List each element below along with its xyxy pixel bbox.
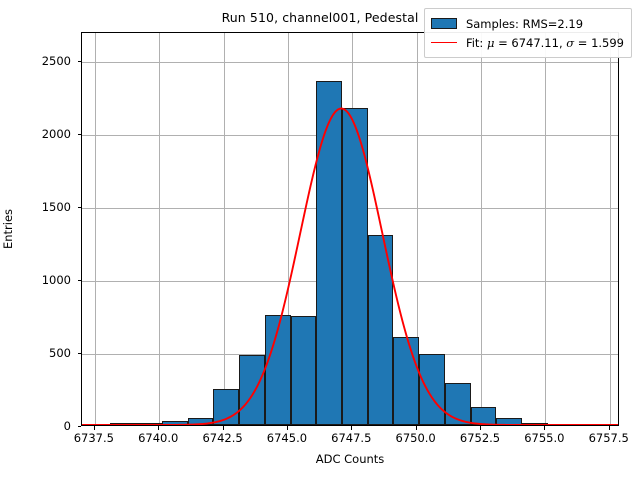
x-tick-label: 6742.5 bbox=[202, 431, 242, 445]
x-tick-label: 6752.5 bbox=[460, 431, 500, 445]
x-tick-mark bbox=[416, 426, 417, 430]
x-tick-label: 6740.0 bbox=[138, 431, 178, 445]
legend-item-samples: Samples: RMS=2.19 bbox=[431, 14, 624, 33]
y-tick-label: 500 bbox=[0, 346, 71, 360]
x-tick-mark bbox=[158, 426, 159, 430]
y-axis-label: Entries bbox=[1, 209, 15, 249]
legend: Samples: RMS=2.19 Fit: μ = 6747.11, σ = … bbox=[424, 8, 632, 58]
y-tick-mark bbox=[78, 207, 82, 208]
x-axis-label: ADC Counts bbox=[81, 452, 619, 466]
legend-patch-swatch-icon bbox=[431, 18, 457, 29]
y-tick-mark bbox=[78, 426, 82, 427]
legend-line-swatch-icon bbox=[431, 37, 457, 48]
y-tick-mark bbox=[78, 61, 82, 62]
x-tick-label: 6747.5 bbox=[331, 431, 371, 445]
fit-curve-path bbox=[82, 109, 618, 425]
y-tick-label: 0 bbox=[0, 419, 71, 433]
x-tick-mark bbox=[94, 426, 95, 430]
x-tick-mark bbox=[223, 426, 224, 430]
y-tick-label: 2500 bbox=[0, 54, 71, 68]
y-tick-mark bbox=[78, 134, 82, 135]
legend-fit-mu-value: = 6747.11, bbox=[494, 36, 566, 50]
x-tick-mark bbox=[480, 426, 481, 430]
x-tick-label: 6750.0 bbox=[396, 431, 436, 445]
y-tick-mark bbox=[78, 280, 82, 281]
legend-item-samples-label: Samples: RMS=2.19 bbox=[466, 17, 583, 31]
x-tick-mark bbox=[287, 426, 288, 430]
y-tick-mark bbox=[78, 353, 82, 354]
x-tick-label: 6755.0 bbox=[524, 431, 564, 445]
x-tick-label: 6737.5 bbox=[74, 431, 114, 445]
x-tick-label: 6757.5 bbox=[589, 431, 629, 445]
legend-fit-prefix: Fit: bbox=[466, 36, 487, 50]
legend-item-fit: Fit: μ = 6747.11, σ = 1.599 bbox=[431, 33, 624, 52]
x-tick-mark bbox=[544, 426, 545, 430]
plot-area bbox=[81, 32, 619, 426]
legend-item-fit-label: Fit: μ = 6747.11, σ = 1.599 bbox=[466, 36, 624, 50]
legend-fit-sigma-value: = 1.599 bbox=[574, 36, 624, 50]
x-tick-label: 6745.0 bbox=[267, 431, 307, 445]
legend-fit-sigma-symbol: σ bbox=[566, 36, 574, 50]
fit-curve bbox=[82, 33, 618, 425]
y-tick-label: 2000 bbox=[0, 127, 71, 141]
x-tick-mark bbox=[351, 426, 352, 430]
y-tick-label: 1000 bbox=[0, 273, 71, 287]
figure-canvas: Run 510, channel001, Pedestal 6737.56740… bbox=[0, 0, 640, 480]
x-tick-mark bbox=[609, 426, 610, 430]
